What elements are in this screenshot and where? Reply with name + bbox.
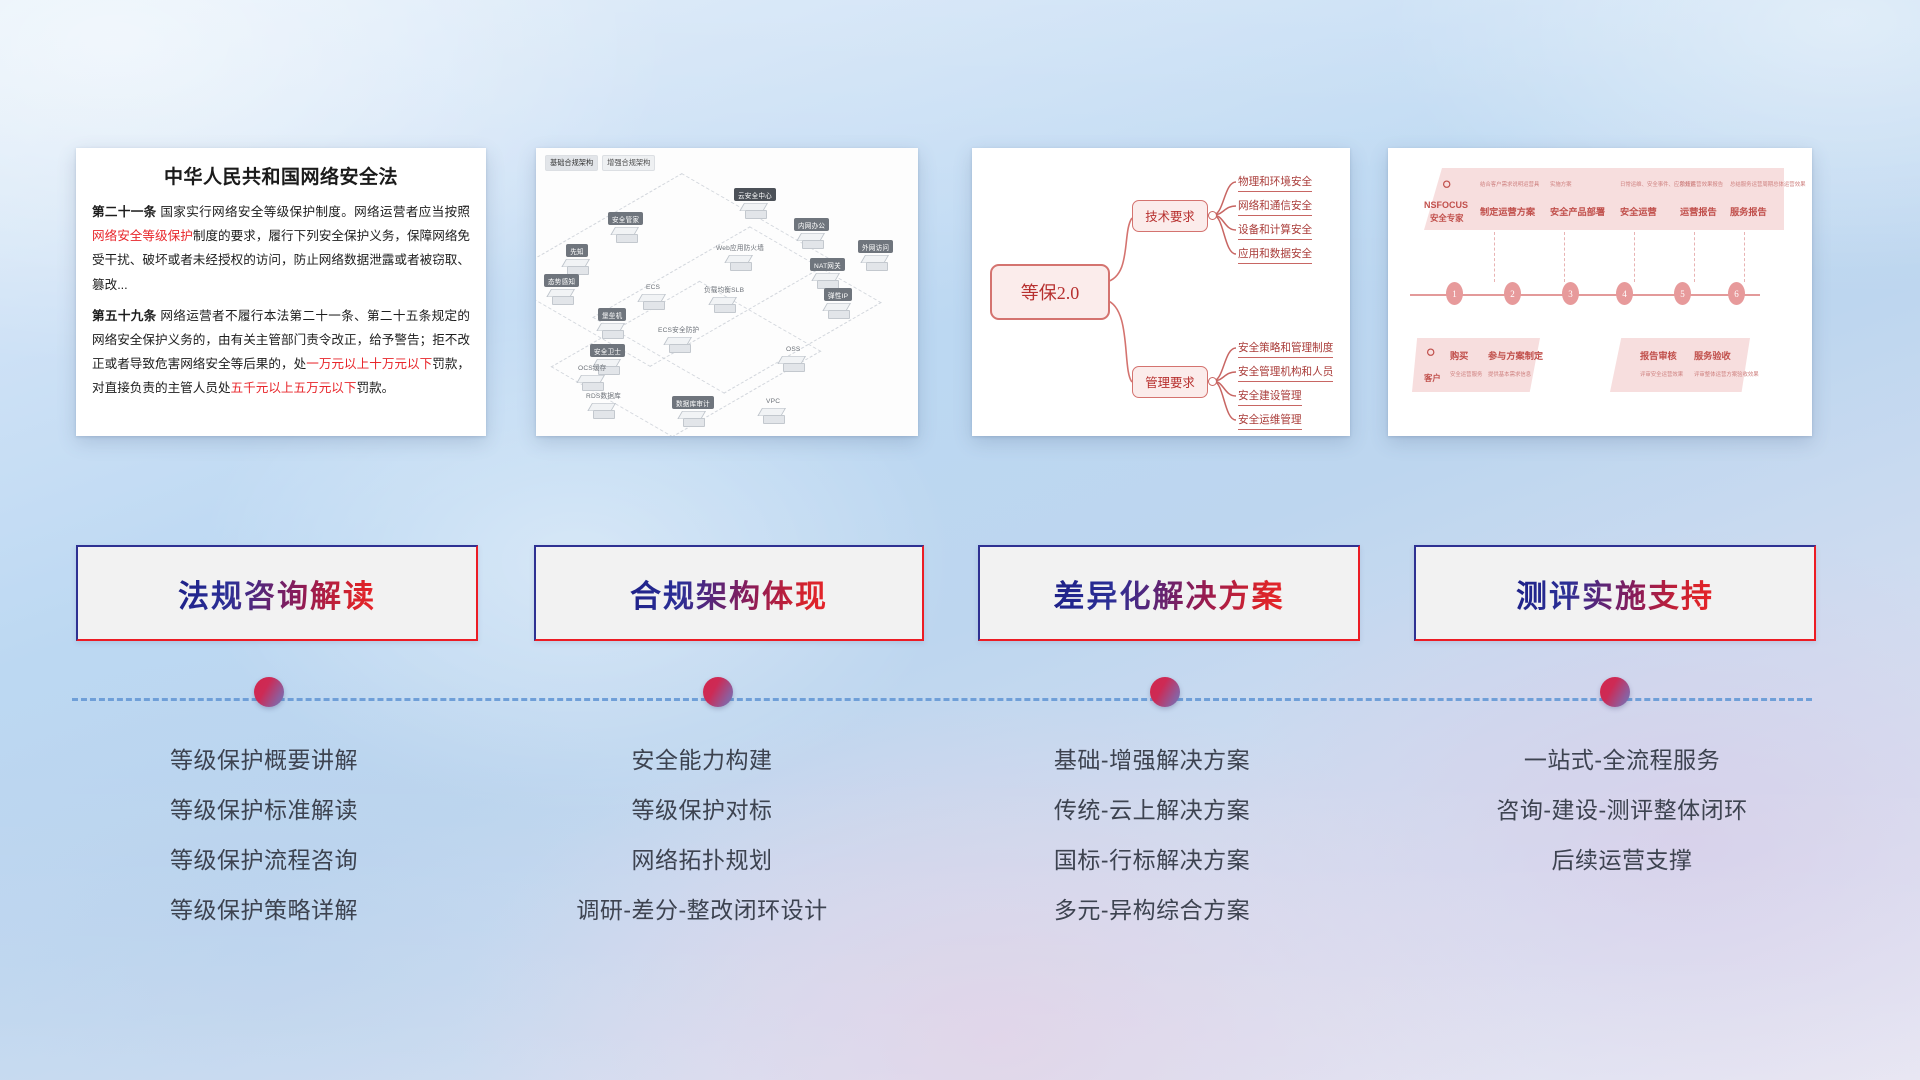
customer-person-icon: ⚪	[1424, 346, 1437, 362]
title-box-differentiated-solution[interactable]: 差异化解决方案	[978, 545, 1360, 641]
detail-item: 多元-异构综合方案	[930, 885, 1374, 935]
nsfocus-step-marker[interactable]: 3	[1562, 282, 1579, 305]
architecture-node-cube-icon	[566, 259, 588, 274]
title-box-evaluation-support[interactable]: 测评实施支持	[1414, 545, 1816, 641]
nsfocus-customer-step-sub: 安全运营服务	[1450, 370, 1482, 378]
architecture-diagram: 基础合规架构 增强合规架构 安全管家先知态势感知云安全中心Web应用防火墙负载均…	[536, 148, 918, 436]
law-highlight-text: 一万元以上十万元以下	[306, 357, 432, 371]
architecture-node-label: 弹性IP	[824, 288, 852, 301]
architecture-node-cube-icon	[865, 255, 887, 270]
law-card-body: 中华人民共和国网络安全法 第二十一条 国家实行网络安全等级保护制度。网络运营者应…	[76, 148, 486, 436]
detail-item: 咨询-建设-测评整体闭环	[1372, 785, 1872, 835]
nsfocus-step-marker[interactable]: 4	[1616, 282, 1633, 305]
architecture-node[interactable]: ECS安全防护	[654, 322, 703, 352]
architecture-node-cube-icon	[592, 403, 614, 418]
nsfocus-step-label[interactable]: 服务报告	[1730, 204, 1767, 218]
nsfocus-connector	[1494, 232, 1495, 282]
architecture-node[interactable]: ECS	[642, 282, 664, 309]
detail-item: 等级保护概要讲解	[42, 735, 486, 785]
architecture-node-cube-icon	[642, 294, 664, 309]
mindmap-card[interactable]: 等保2.0 技术要求 管理要求 物理和环境安全网络和通信安全设备和计算安全应用和…	[972, 148, 1350, 436]
detail-item: 传统-云上解决方案	[930, 785, 1374, 835]
nsfocus-customer-step-sub: 提供基本需求信息	[1488, 370, 1531, 378]
nsfocus-connector	[1634, 232, 1635, 282]
architecture-node-cube-icon	[827, 303, 849, 318]
architecture-node-label: RDS数据库	[582, 388, 625, 401]
detail-item: 安全能力构建	[480, 735, 924, 785]
nsfocus-customer-step-label[interactable]: 参与方案制定	[1488, 348, 1543, 362]
detail-item: 等级保护流程咨询	[42, 835, 486, 885]
architecture-node-label: 安全卫士	[590, 344, 625, 357]
architecture-node[interactable]: VPC	[762, 396, 784, 423]
nsfocus-step-sub: 总结服务运营周期总体运营效果	[1730, 180, 1805, 188]
architecture-node[interactable]: 内网办公	[794, 218, 829, 248]
mindmap-branch-management[interactable]: 管理要求	[1132, 366, 1208, 398]
architecture-node[interactable]: 云安全中心	[734, 188, 776, 218]
slide-stage: 中华人民共和国网络安全法 第二十一条 国家实行网络安全等级保护制度。网络运营者应…	[0, 0, 1920, 1080]
architecture-node[interactable]: 负载均衡SLB	[700, 282, 748, 312]
mindmap-leaf[interactable]: 安全运维管理	[1238, 412, 1302, 430]
timeline	[0, 690, 1920, 730]
architecture-node-layer: 安全管家先知态势感知云安全中心Web应用防火墙负载均衡SLBECSNAT网关弹性…	[536, 148, 918, 436]
law-article-label: 第二十一条	[92, 205, 157, 219]
mindmap-branch-technical[interactable]: 技术要求	[1132, 200, 1208, 232]
law-card-title: 中华人民共和国网络安全法	[92, 162, 470, 189]
architecture-node[interactable]: 先知	[566, 244, 588, 274]
architecture-node[interactable]: Web应用防火墙	[712, 240, 768, 270]
architecture-node-label: 先知	[566, 244, 588, 257]
detail-item: 等级保护策略详解	[42, 885, 486, 935]
timeline-dot-3[interactable]	[1150, 677, 1180, 707]
mindmap-diagram: 等保2.0 技术要求 管理要求 物理和环境安全网络和通信安全设备和计算安全应用和…	[972, 148, 1350, 436]
detail-column-evaluation: 一站式-全流程服务咨询-建设-测评整体闭环后续运营支撑	[1372, 735, 1872, 885]
mindmap-leaf[interactable]: 安全策略和管理制度	[1238, 340, 1333, 358]
nsfocus-connector	[1744, 232, 1745, 282]
nsfocus-customer-step-label[interactable]: 购买	[1450, 348, 1468, 362]
nsfocus-timeline-card[interactable]: ⚪ NSFOCUS 安全专家 ⚪ 客户 结合客户需求说明运营具制定运营方案实施方…	[1388, 148, 1812, 436]
nsfocus-customer-label: 客户	[1424, 372, 1441, 384]
detail-item: 等级保护标准解读	[42, 785, 486, 835]
architecture-node[interactable]: 数据库审计	[672, 396, 714, 426]
nsfocus-customer-step-sub: 评审安全运营效果	[1640, 370, 1683, 378]
detail-column-regulation: 等级保护概要讲解等级保护标准解读等级保护流程咨询等级保护策略详解	[42, 735, 486, 935]
architecture-node[interactable]: RDS数据库	[582, 388, 625, 418]
detail-item: 基础-增强解决方案	[930, 735, 1374, 785]
mindmap-leaf[interactable]: 网络和通信安全	[1238, 198, 1312, 216]
nsfocus-step-sub: 阶段运营效果报告	[1680, 180, 1723, 188]
nsfocus-step-marker[interactable]: 5	[1674, 282, 1691, 305]
nsfocus-customer-step-sub: 评审整体运营方案验收效果	[1694, 370, 1759, 378]
timeline-dot-4[interactable]	[1600, 677, 1630, 707]
detail-item: 网络拓扑规划	[480, 835, 924, 885]
mindmap-leaf[interactable]: 安全建设管理	[1238, 388, 1302, 406]
nsfocus-brand-sub: 安全专家	[1430, 212, 1464, 224]
architecture-node-label: Web应用防火墙	[712, 240, 768, 253]
thumbnail-card-row: 中华人民共和国网络安全法 第二十一条 国家实行网络安全等级保护制度。网络运营者应…	[0, 148, 1920, 438]
architecture-node-cube-icon	[551, 289, 573, 304]
nsfocus-step-label[interactable]: 安全产品部署	[1550, 204, 1605, 218]
architecture-node-label: 负载均衡SLB	[700, 282, 748, 295]
nsfocus-top-band	[1424, 168, 1784, 230]
law-article-label: 第五十九条	[92, 309, 157, 323]
architecture-node-cube-icon	[801, 233, 823, 248]
timeline-rail	[72, 698, 1812, 701]
architecture-node-label: 态势感知	[544, 274, 579, 287]
mindmap-leaf[interactable]: 物理和环境安全	[1238, 174, 1312, 192]
law-article-1: 第二十一条 国家实行网络安全等级保护制度。网络运营者应当按照网络安全等级保护制度…	[92, 200, 470, 297]
nsfocus-bottom-right-band	[1610, 338, 1750, 392]
title-box-row: 法规咨询解读 合规架构体现 差异化解决方案 测评实施支持	[0, 545, 1920, 645]
nsfocus-customer-step-label[interactable]: 报告审核	[1640, 348, 1677, 362]
law-body-text: 国家实行网络安全等级保护制度。网络运营者应当按照	[157, 205, 470, 219]
law-article-2: 第五十九条 网络运营者不履行本法第二十一条、第二十五条规定的网络安全保护义务的，…	[92, 304, 470, 401]
timeline-dot-2[interactable]	[703, 677, 733, 707]
nsfocus-step-marker[interactable]: 6	[1728, 282, 1745, 305]
architecture-card[interactable]: 基础合规架构 增强合规架构 安全管家先知态势感知云安全中心Web应用防火墙负载均…	[536, 148, 918, 436]
title-box-label: 合规架构体现	[630, 571, 828, 616]
architecture-node-label: 堡垒机	[598, 308, 626, 321]
nsfocus-customer-step-label[interactable]: 服务验收	[1694, 348, 1731, 362]
architecture-node-label: ECS	[642, 282, 664, 292]
nsfocus-connector	[1564, 232, 1565, 282]
architecture-node[interactable]: 安全管家	[608, 212, 643, 242]
architecture-node-cube-icon	[668, 337, 690, 352]
mindmap-leaf[interactable]: 应用和数据安全	[1238, 246, 1312, 264]
law-highlight-text: 五千元以上五万元以下	[231, 381, 357, 395]
title-box-label: 测评实施支持	[1516, 571, 1714, 616]
architecture-node-label: OCS缓存	[574, 360, 610, 373]
architecture-node[interactable]: OSS	[782, 344, 805, 371]
nsfocus-step-sub: 结合客户需求说明运营具	[1480, 180, 1539, 188]
detail-column-architecture: 安全能力构建等级保护对标网络拓扑规划调研-差分-整改闭环设计	[480, 735, 924, 935]
detail-item: 调研-差分-整改闭环设计	[480, 885, 924, 935]
architecture-node[interactable]: OCS缓存	[574, 360, 610, 390]
nsfocus-step-sub: 实施方案	[1550, 180, 1572, 188]
timeline-dot-1[interactable]	[254, 677, 284, 707]
nsfocus-brand: NSFOCUS	[1424, 200, 1468, 210]
title-box-compliance-architecture[interactable]: 合规架构体现	[534, 545, 924, 641]
title-box-regulation-consulting[interactable]: 法规咨询解读	[76, 545, 478, 641]
architecture-node-cube-icon	[601, 323, 623, 338]
nsfocus-step-label[interactable]: 制定运营方案	[1480, 204, 1535, 218]
architecture-node[interactable]: 态势感知	[544, 274, 579, 304]
mindmap-leaf[interactable]: 安全管理机构和人员	[1238, 364, 1333, 382]
architecture-node[interactable]: 外网访问	[858, 240, 893, 270]
detail-item: 等级保护对标	[480, 785, 924, 835]
detail-item: 一站式-全流程服务	[1372, 735, 1872, 785]
architecture-node-label: 外网访问	[858, 240, 893, 253]
law-body-text: 罚款。	[356, 381, 394, 395]
mindmap-collapse-dot-management[interactable]	[1208, 377, 1217, 386]
law-card[interactable]: 中华人民共和国网络安全法 第二十一条 国家实行网络安全等级保护制度。网络运营者应…	[76, 148, 486, 436]
detail-item: 国标-行标解决方案	[930, 835, 1374, 885]
detail-column-solution: 基础-增强解决方案传统-云上解决方案国标-行标解决方案多元-异构综合方案	[930, 735, 1374, 935]
mindmap-collapse-dot-technical[interactable]	[1208, 211, 1217, 220]
nsfocus-step-label[interactable]: 运营报告	[1680, 204, 1717, 218]
nsfocus-step-marker[interactable]: 2	[1504, 282, 1521, 305]
architecture-node-label: 安全管家	[608, 212, 643, 225]
architecture-node-label: OSS	[782, 344, 805, 354]
architecture-node-cube-icon	[729, 255, 751, 270]
nsfocus-step-marker[interactable]: 1	[1446, 282, 1463, 305]
architecture-node-label: 内网办公	[794, 218, 829, 231]
architecture-node[interactable]: 弹性IP	[824, 288, 852, 318]
architecture-node-cube-icon	[615, 227, 637, 242]
architecture-node-cube-icon	[816, 273, 838, 288]
detail-item: 后续运营支撑	[1372, 835, 1872, 885]
architecture-node-cube-icon	[682, 411, 704, 426]
architecture-node-label: VPC	[762, 396, 784, 406]
architecture-node-cube-icon	[782, 356, 804, 371]
mindmap-leaf[interactable]: 设备和计算安全	[1238, 222, 1312, 240]
architecture-node-label: 数据库审计	[672, 396, 714, 409]
law-highlight-text: 网络安全等级保护	[92, 229, 193, 243]
architecture-node-label: NAT网关	[810, 258, 845, 271]
architecture-node[interactable]: NAT网关	[810, 258, 845, 288]
nsfocus-diagram: ⚪ NSFOCUS 安全专家 ⚪ 客户 结合客户需求说明运营具制定运营方案实施方…	[1388, 148, 1812, 436]
mindmap-root-node[interactable]: 等保2.0	[990, 264, 1110, 320]
expert-person-icon: ⚪	[1440, 178, 1453, 194]
title-box-label: 法规咨询解读	[178, 571, 376, 616]
architecture-node-label: ECS安全防护	[654, 322, 703, 335]
architecture-node-label: 云安全中心	[734, 188, 776, 201]
architecture-node[interactable]: 堡垒机	[598, 308, 626, 338]
nsfocus-step-label[interactable]: 安全运营	[1620, 204, 1657, 218]
nsfocus-connector	[1694, 232, 1695, 282]
architecture-node-cube-icon	[713, 297, 735, 312]
architecture-node-cube-icon	[744, 203, 766, 218]
title-box-label: 差异化解决方案	[1054, 571, 1285, 616]
architecture-node-cube-icon	[762, 408, 784, 423]
detail-column-row: 等级保护概要讲解等级保护标准解读等级保护流程咨询等级保护策略详解 安全能力构建等…	[0, 735, 1920, 955]
